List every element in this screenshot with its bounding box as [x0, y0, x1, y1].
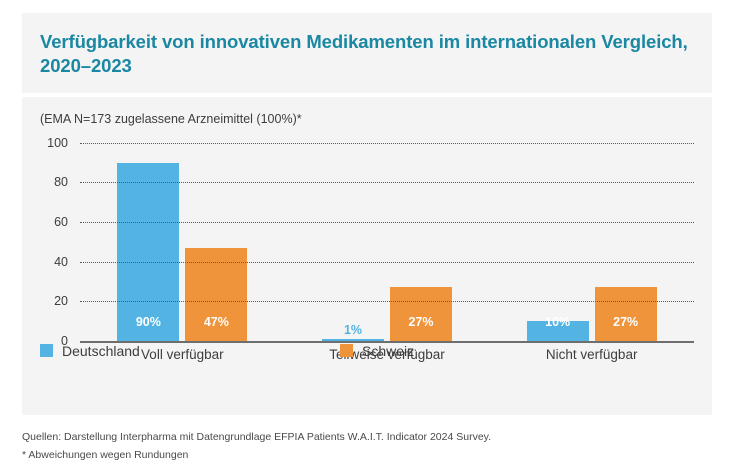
legend-swatch-icon — [40, 344, 53, 357]
bar-value-label: 27% — [408, 315, 433, 341]
bar-schweiz-2[interactable]: 27% — [595, 287, 657, 340]
bar-value-label: 1% — [344, 323, 362, 339]
bar-value-label: 90% — [136, 315, 161, 341]
bar-group: 90%47% — [80, 143, 285, 341]
bar-deutschland-2[interactable]: 10% — [527, 321, 589, 341]
legend-label: Schweiz — [362, 343, 414, 359]
gridline — [80, 222, 694, 223]
gridline — [80, 182, 694, 183]
y-axis-tick: 60 — [54, 215, 68, 229]
bar-group: 10%27% — [489, 143, 694, 341]
plot-area: 90%47%1%27%10%27% — [80, 143, 694, 343]
bar-group: 1%27% — [285, 143, 490, 341]
chart-card: Verfügbarkeit von innovativen Medikament… — [22, 13, 712, 415]
chart-legend: DeutschlandSchweiz — [40, 343, 694, 359]
bar-deutschland-0[interactable]: 90% — [117, 163, 179, 341]
y-axis: 020406080100 — [40, 143, 74, 343]
bar-value-label: 27% — [613, 315, 638, 341]
gridline — [80, 143, 694, 144]
y-axis-tick: 40 — [54, 255, 68, 269]
legend-swatch-icon — [340, 344, 353, 357]
legend-label: Deutschland — [62, 343, 140, 359]
card-body: (EMA N=173 zugelassene Arzneimittel (100… — [22, 97, 712, 415]
bars-layer: 90%47%1%27%10%27% — [80, 143, 694, 341]
gridline — [80, 301, 694, 302]
y-axis-tick: 20 — [54, 294, 68, 308]
bar-value-label: 10% — [545, 315, 570, 341]
legend-item-schweiz[interactable]: Schweiz — [340, 343, 414, 359]
footnotes: Quellen: Darstellung Interpharma mit Dat… — [22, 428, 712, 465]
bar-schweiz-1[interactable]: 27% — [390, 287, 452, 340]
footnote-line: * Abweichungen wegen Rundungen — [22, 446, 712, 464]
bar-chart-plot: 020406080100 90%47%1%27%10%27% Voll verf… — [40, 143, 694, 358]
card-header: Verfügbarkeit von innovativen Medikament… — [22, 13, 712, 93]
y-axis-tick: 80 — [54, 175, 68, 189]
y-axis-tick: 100 — [47, 136, 68, 150]
bar-deutschland-1[interactable]: 1% — [322, 339, 384, 341]
chart-subtitle: (EMA N=173 zugelassene Arzneimittel (100… — [40, 111, 694, 127]
bar-value-label: 47% — [204, 315, 229, 341]
legend-item-deutschland[interactable]: Deutschland — [40, 343, 340, 359]
page-title: Verfügbarkeit von innovativen Medikament… — [40, 30, 694, 79]
gridline — [80, 262, 694, 263]
footnote-line: Quellen: Darstellung Interpharma mit Dat… — [22, 428, 712, 446]
